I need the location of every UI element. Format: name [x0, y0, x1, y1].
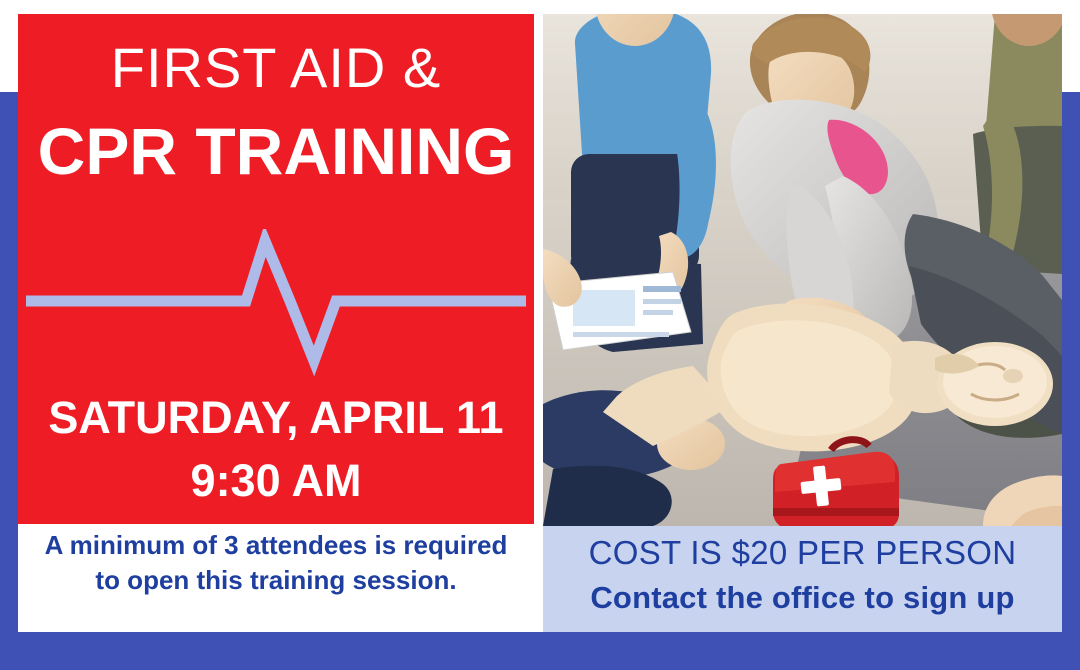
event-time: 9:30 AM [18, 457, 534, 504]
event-date: SATURDAY, APRIL 11 [18, 394, 534, 441]
frame-band-bottom [0, 632, 1080, 670]
poster: FIRST AID & CPR TRAINING SATURDAY, APRIL… [0, 0, 1080, 670]
signup-text: Contact the office to sign up [543, 580, 1062, 616]
cpr-training-photo [543, 14, 1062, 526]
heartbeat-icon [18, 229, 534, 389]
frame-band-right [1062, 92, 1080, 632]
frame-band-left [0, 92, 18, 632]
note-line-1: A minimum of 3 attendees is required [45, 530, 508, 560]
headline-line-2: CPR TRAINING [18, 118, 534, 184]
note-line-2: to open this training session. [18, 563, 534, 598]
cost-bar: COST IS $20 PER PERSON Contact the offic… [543, 526, 1062, 632]
headline-line-1: FIRST AID & [18, 40, 534, 96]
headline-panel: FIRST AID & CPR TRAINING SATURDAY, APRIL… [18, 14, 534, 524]
cost-text: COST IS $20 PER PERSON [543, 534, 1062, 572]
minimum-attendees-note: A minimum of 3 attendees is required to … [18, 528, 534, 598]
